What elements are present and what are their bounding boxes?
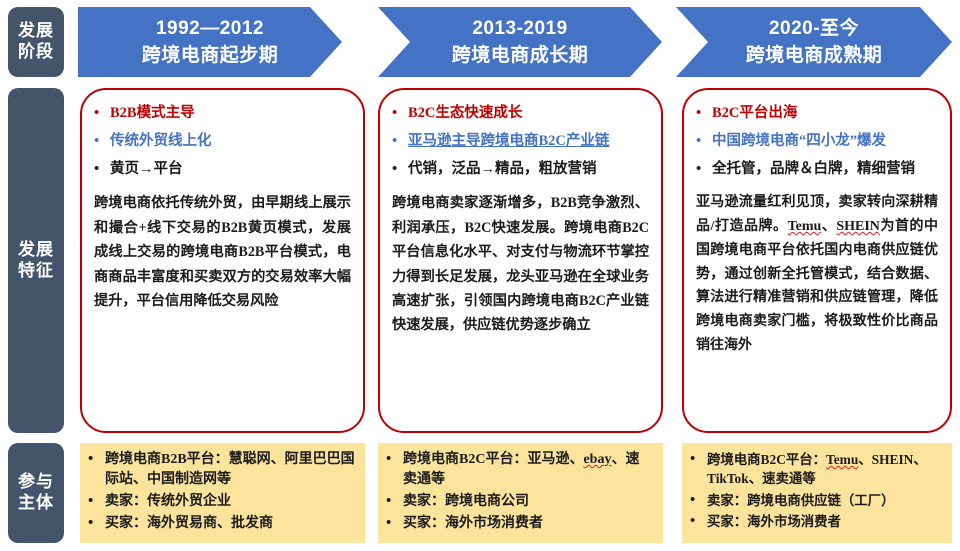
bullet-dot-icon: • bbox=[690, 491, 707, 510]
feature-bullet-list-2: •B2C生态快速成长•亚马逊主导跨境电商B2C产业链•代销，泛品→精品，粗放营销 bbox=[392, 104, 649, 178]
phase-arrow-1-title: 跨境电商起步期 bbox=[142, 43, 279, 68]
feature-box-3: •B2C平台出海•中国跨境电商“四小龙”爆发•全托管，品牌＆白牌，精细营销 亚马… bbox=[682, 88, 952, 433]
phase-arrow-2-title: 跨境电商成长期 bbox=[452, 43, 589, 68]
actor-box-1: •跨境电商B2B平台：慧聪网、阿里巴巴国际站、中国制造网等•卖家：传统外贸企业•… bbox=[80, 443, 365, 543]
phase-arrow-2: 2013-2019 跨境电商成长期 bbox=[378, 7, 662, 77]
actor-bullet-list-2: •跨境电商B2C平台：亚马逊、ebay、速卖通等•卖家：跨境电商公司•买家：海外… bbox=[386, 450, 653, 535]
phase-arrow-3-title: 跨境电商成熟期 bbox=[746, 43, 883, 68]
bullet-dot-icon: • bbox=[696, 104, 712, 123]
actor-bullet-label: 卖家：传统外贸企业 bbox=[105, 492, 355, 512]
bullet-dot-icon: • bbox=[690, 450, 707, 469]
actor-bullet-label: 买家：海外市场消费者 bbox=[403, 514, 653, 534]
bullet-dot-icon: • bbox=[696, 160, 712, 179]
bullet-dot-icon: • bbox=[94, 160, 110, 179]
feature-paragraph-3: 亚马逊流量红利见顶，卖家转向深耕精品/打造品牌。Temu、SHEIN为首的中国跨… bbox=[696, 191, 938, 358]
actor-bullet-list-3: •跨境电商B2C平台：Temu、SHEIN、TikTok、速卖通等•卖家：跨境电… bbox=[690, 450, 942, 531]
actor-bullet: •跨境电商B2C平台：Temu、SHEIN、TikTok、速卖通等 bbox=[690, 450, 942, 489]
bullet-dot-icon: • bbox=[386, 492, 403, 511]
feature-bullet-label: 亚马逊主导跨境电商B2C产业链 bbox=[408, 132, 649, 150]
actor-bullet: •买家：海外市场消费者 bbox=[386, 514, 653, 534]
feature-bullet: •亚马逊主导跨境电商B2C产业链 bbox=[392, 132, 649, 151]
actor-bullet: •买家：海外贸易商、批发商 bbox=[88, 514, 355, 534]
bullet-dot-icon: • bbox=[94, 104, 110, 123]
actor-box-3: •跨境电商B2C平台：Temu、SHEIN、TikTok、速卖通等•卖家：跨境电… bbox=[682, 443, 952, 543]
row-label-actors-line1: 参与 bbox=[18, 472, 54, 493]
row-label-stage-line2: 阶段 bbox=[18, 42, 54, 63]
actor-bullet-label: 卖家：跨境电商供应链（工厂） bbox=[707, 491, 942, 510]
bullet-dot-icon: • bbox=[392, 104, 408, 123]
feature-bullet-label: 代销，泛品→精品，粗放营销 bbox=[408, 160, 649, 178]
feature-box-2: •B2C生态快速成长•亚马逊主导跨境电商B2C产业链•代销，泛品→精品，粗放营销… bbox=[378, 88, 663, 433]
feature-bullet: •代销，泛品→精品，粗放营销 bbox=[392, 160, 649, 179]
bullet-dot-icon: • bbox=[88, 492, 105, 511]
phase-arrow-1-period: 1992—2012 bbox=[156, 16, 264, 41]
actor-bullet: •卖家：跨境电商公司 bbox=[386, 492, 653, 512]
row-label-feature-line2: 特征 bbox=[18, 261, 54, 282]
feature-bullet: •传统外贸线上化 bbox=[94, 132, 351, 151]
actor-bullet: •买家：海外市场消费者 bbox=[690, 512, 942, 531]
actor-bullet-label: 卖家：跨境电商公司 bbox=[403, 492, 653, 512]
actor-bullet-list-1: •跨境电商B2B平台：慧聪网、阿里巴巴国际站、中国制造网等•卖家：传统外贸企业•… bbox=[88, 450, 355, 535]
bullet-dot-icon: • bbox=[690, 512, 707, 531]
actor-bullet: •跨境电商B2C平台：亚马逊、ebay、速卖通等 bbox=[386, 450, 653, 490]
feature-bullet: •黄页→平台 bbox=[94, 160, 351, 179]
feature-bullet-list-3: •B2C平台出海•中国跨境电商“四小龙”爆发•全托管，品牌＆白牌，精细营销 bbox=[696, 104, 938, 178]
feature-bullet-label: 全托管，品牌＆白牌，精细营销 bbox=[712, 160, 938, 178]
spellcheck-underline: SHEIN bbox=[836, 219, 880, 234]
bullet-dot-icon: • bbox=[392, 160, 408, 179]
row-label-stage: 发展 阶段 bbox=[8, 7, 64, 77]
actor-bullet-label: 跨境电商B2B平台：慧聪网、阿里巴巴国际站、中国制造网等 bbox=[105, 450, 355, 490]
bullet-dot-icon: • bbox=[94, 132, 110, 151]
row-label-feature: 发展 特征 bbox=[8, 88, 64, 433]
phase-arrow-3-period: 2020-至今 bbox=[769, 16, 859, 41]
spellcheck-underline: ebay bbox=[583, 452, 611, 467]
feature-paragraph-1: 跨境电商依托传统外贸，由早期线上展示和撮合+线下交易的B2B黄页模式，发展成线上… bbox=[94, 191, 351, 313]
actor-bullet-label: 跨境电商B2C平台：Temu、SHEIN、TikTok、速卖通等 bbox=[707, 450, 942, 489]
phase-arrow-1: 1992—2012 跨境电商起步期 bbox=[78, 7, 342, 77]
row-label-actors: 参与 主体 bbox=[8, 443, 64, 543]
feature-paragraph-2: 跨境电商卖家逐渐增多，B2B竞争激烈、利润承压，B2C快速发展。跨境电商B2C平… bbox=[392, 191, 649, 338]
bullet-dot-icon: • bbox=[386, 450, 403, 469]
actor-bullet-label: 买家：海外市场消费者 bbox=[707, 512, 942, 531]
feature-bullet-label: B2C平台出海 bbox=[712, 104, 938, 122]
feature-bullet: •B2B模式主导 bbox=[94, 104, 351, 123]
feature-bullet: •全托管，品牌＆白牌，精细营销 bbox=[696, 160, 938, 179]
feature-bullet: •B2C平台出海 bbox=[696, 104, 938, 123]
bullet-dot-icon: • bbox=[696, 132, 712, 151]
feature-bullet: •B2C生态快速成长 bbox=[392, 104, 649, 123]
feature-box-1: •B2B模式主导•传统外贸线上化•黄页→平台 跨境电商依托传统外贸，由早期线上展… bbox=[80, 88, 365, 433]
actor-bullet: •跨境电商B2B平台：慧聪网、阿里巴巴国际站、中国制造网等 bbox=[88, 450, 355, 490]
phase-arrow-3: 2020-至今 跨境电商成熟期 bbox=[676, 7, 952, 77]
actor-bullet: •卖家：传统外贸企业 bbox=[88, 492, 355, 512]
feature-bullet-label: B2B模式主导 bbox=[110, 104, 351, 122]
feature-bullet-list-1: •B2B模式主导•传统外贸线上化•黄页→平台 bbox=[94, 104, 351, 178]
row-label-stage-line1: 发展 bbox=[18, 21, 54, 42]
row-label-actors-line2: 主体 bbox=[18, 493, 54, 514]
feature-bullet: •中国跨境电商“四小龙”爆发 bbox=[696, 132, 938, 151]
spellcheck-underline: Temu bbox=[826, 452, 858, 467]
bullet-dot-icon: • bbox=[386, 514, 403, 533]
feature-bullet-label: 黄页→平台 bbox=[110, 160, 351, 178]
feature-bullet-label: 传统外贸线上化 bbox=[110, 132, 351, 150]
actor-bullet: •卖家：跨境电商供应链（工厂） bbox=[690, 491, 942, 510]
feature-bullet-label: B2C生态快速成长 bbox=[408, 104, 649, 122]
actor-bullet-label: 买家：海外贸易商、批发商 bbox=[105, 514, 355, 534]
bullet-dot-icon: • bbox=[88, 514, 105, 533]
bullet-dot-icon: • bbox=[88, 450, 105, 469]
actor-bullet-label: 跨境电商B2C平台：亚马逊、ebay、速卖通等 bbox=[403, 450, 653, 490]
feature-bullet-label: 中国跨境电商“四小龙”爆发 bbox=[712, 132, 938, 150]
actor-box-2: •跨境电商B2C平台：亚马逊、ebay、速卖通等•卖家：跨境电商公司•买家：海外… bbox=[378, 443, 663, 543]
phase-arrow-2-period: 2013-2019 bbox=[472, 16, 567, 41]
spellcheck-underline: Temu bbox=[788, 219, 822, 234]
row-label-feature-line1: 发展 bbox=[18, 240, 54, 261]
bullet-dot-icon: • bbox=[392, 132, 408, 151]
